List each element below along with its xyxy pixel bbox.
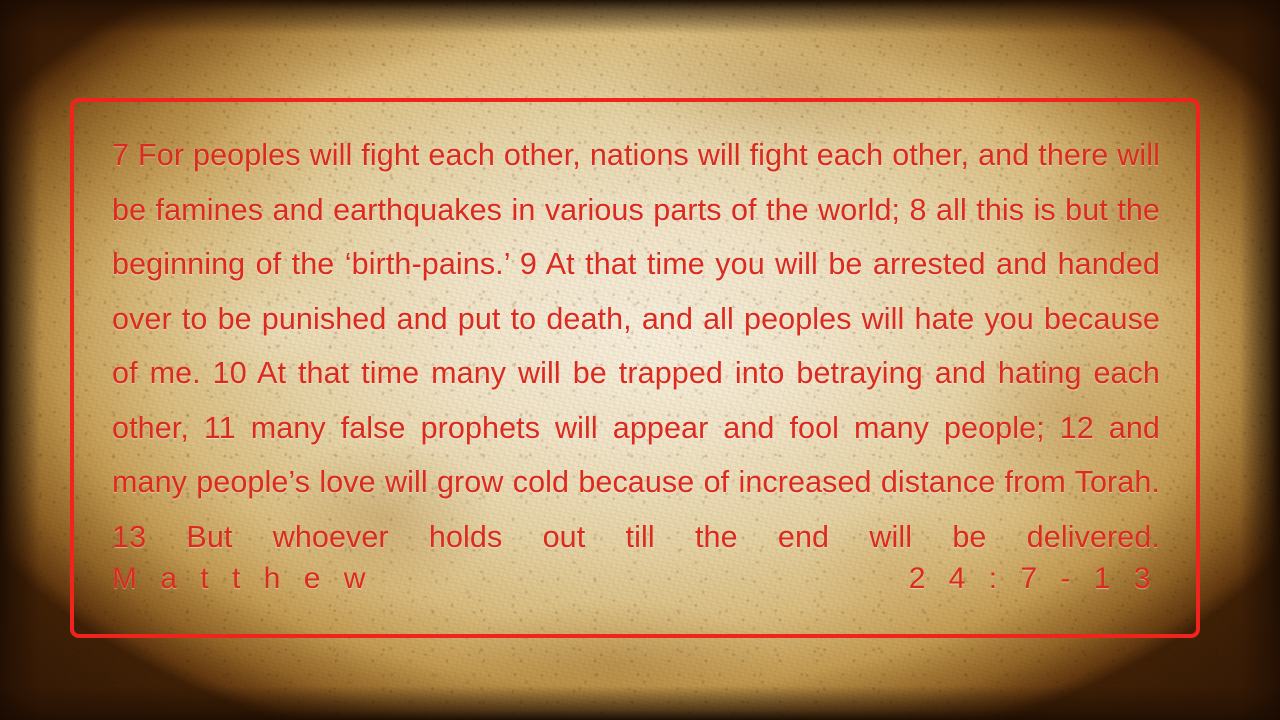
verse-slide: 7 For peoples will fight each other, nat… — [0, 0, 1280, 720]
book-name: M a t t h e w — [112, 562, 373, 596]
verse-reference: 2 4 : 7 - 1 3 — [909, 562, 1160, 596]
verse-text-block: 7 For peoples will fight each other, nat… — [112, 128, 1160, 619]
verse-paragraph: 7 For peoples will fight each other, nat… — [112, 128, 1160, 619]
verse-attribution: M a t t h e w 2 4 : 7 - 1 3 — [112, 562, 1160, 596]
